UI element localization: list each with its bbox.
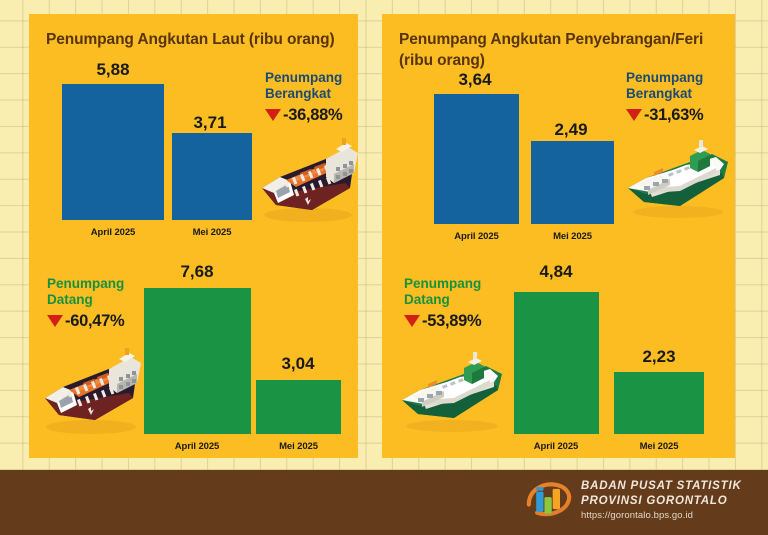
infographic-canvas: Penumpang Angkutan Laut (ribu orang) 5,8… xyxy=(0,0,768,535)
callout-penumpang-berangkat: Penumpang Berangkat -36,88% xyxy=(265,70,342,125)
callout-title: Penumpang Berangkat xyxy=(626,70,703,102)
panel-title-laut: Penumpang Angkutan Laut (ribu orang) xyxy=(46,30,348,51)
bar-value: 7,68 xyxy=(141,262,253,282)
callout-delta-value: -36,88% xyxy=(265,106,342,125)
bar-value: 5,88 xyxy=(60,60,166,80)
bar-category: April 2025 xyxy=(504,441,608,452)
callout-penumpang-datang: Penumpang Datang -53,89% xyxy=(404,276,481,331)
cargo-ship-icon xyxy=(33,340,145,445)
callout-delta-value: -53,89% xyxy=(404,312,481,331)
callout-penumpang-berangkat: Penumpang Berangkat -31,63% xyxy=(626,70,703,125)
panel-title-feri: Penumpang Angkutan Penyebrangan/Feri (ri… xyxy=(399,30,725,71)
chart-feri-datang: 4,84 2,23 April 2025 Mei 2025 Penumpang … xyxy=(382,262,735,454)
chart-feri-berangkat: 3,64 2,49 April 2025 Mei 2025 Penumpang … xyxy=(382,70,735,244)
bps-logo-icon xyxy=(525,477,573,521)
bar-category: April 2025 xyxy=(425,231,528,242)
bar-mei-2025 xyxy=(531,141,614,224)
cargo-ship-icon xyxy=(250,133,362,232)
callout-title: Penumpang Datang xyxy=(47,276,124,308)
bar-value: 3,04 xyxy=(251,354,345,374)
bar-category: April 2025 xyxy=(141,441,253,452)
chart-laut-berangkat: 5,88 3,71 April 2025 Mei 2025 Penumpang … xyxy=(29,60,358,240)
bar-category: Mei 2025 xyxy=(530,231,615,242)
bar-category: Mei 2025 xyxy=(254,441,343,452)
bar-category: Mei 2025 xyxy=(170,227,254,238)
brand-line-1: BADAN PUSAT STATISTIK xyxy=(581,479,742,493)
triangle-down-icon xyxy=(265,109,281,121)
bar-april-2025 xyxy=(62,84,164,220)
footer-url[interactable]: https://gorontalo.bps.go.id xyxy=(581,510,742,521)
ferry-icon xyxy=(620,132,736,229)
bar-mei-2025 xyxy=(256,380,341,434)
triangle-down-icon xyxy=(47,315,63,327)
bar-category: Mei 2025 xyxy=(614,441,704,452)
callout-penumpang-datang: Penumpang Datang -60,47% xyxy=(47,276,124,331)
callout-delta-value: -31,63% xyxy=(626,106,703,125)
triangle-down-icon xyxy=(626,109,642,121)
bar-value: 4,84 xyxy=(502,262,610,282)
bar-category: April 2025 xyxy=(60,227,166,238)
footer-bar: BADAN PUSAT STATISTIK PROVINSI GORONTALO… xyxy=(0,470,768,535)
panel-angkutan-penyebrangan-feri: Penumpang Angkutan Penyebrangan/Feri (ri… xyxy=(382,14,735,458)
panel-angkutan-laut: Penumpang Angkutan Laut (ribu orang) 5,8… xyxy=(29,14,358,458)
bar-april-2025 xyxy=(434,94,519,224)
bar-value: 3,71 xyxy=(162,113,258,133)
triangle-down-icon xyxy=(404,315,420,327)
bar-value: 2,49 xyxy=(522,120,620,140)
bar-mei-2025 xyxy=(172,133,252,220)
bps-branding: BADAN PUSAT STATISTIK PROVINSI GORONTALO… xyxy=(525,477,742,521)
bar-april-2025 xyxy=(514,292,599,434)
bar-value: 3,64 xyxy=(421,70,529,90)
brand-line-2: PROVINSI GORONTALO xyxy=(581,494,742,508)
ferry-icon xyxy=(394,342,510,443)
chart-laut-datang: 7,68 3,04 April 2025 Mei 2025 Penumpang … xyxy=(29,262,358,454)
callout-title: Penumpang Berangkat xyxy=(265,70,342,102)
footer-text-block: BADAN PUSAT STATISTIK PROVINSI GORONTALO… xyxy=(581,477,742,521)
bar-mei-2025 xyxy=(614,372,704,434)
callout-delta-value: -60,47% xyxy=(47,312,124,331)
callout-title: Penumpang Datang xyxy=(404,276,481,308)
bar-april-2025 xyxy=(144,288,251,434)
bar-value: 2,23 xyxy=(610,347,708,367)
